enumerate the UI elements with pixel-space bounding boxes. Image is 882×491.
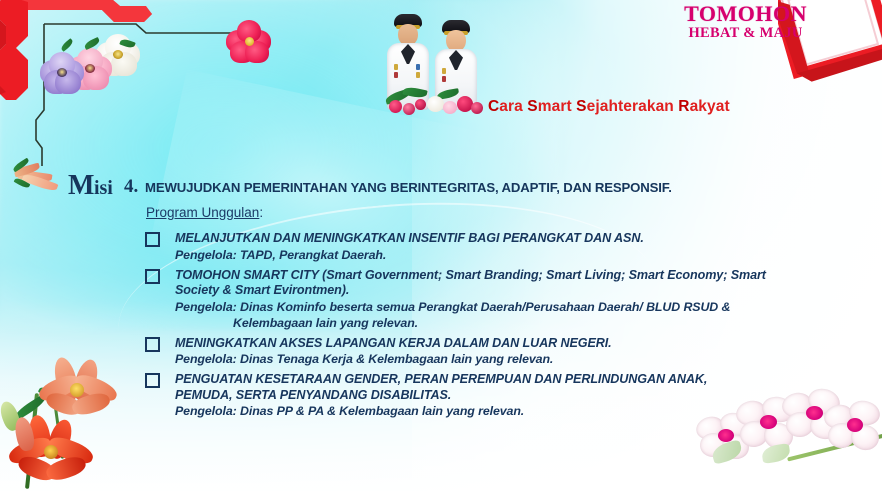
list-item-sub-cont: Kelembagaan lain yang relevan. bbox=[233, 315, 865, 331]
list-item-sub: Pengelola: Dinas Kominfo beserta semua P… bbox=[175, 299, 865, 315]
list-item: MENINGKATKAN AKSES LAPANGAN KERJA DALAM … bbox=[145, 336, 865, 368]
program-unggulan-label: Program Unggulan: bbox=[146, 205, 263, 220]
program-unggulan-underlined: Program Unggulan bbox=[146, 205, 259, 220]
list-item: MELANJUTKAN DAN MENINGKATKAN INSENTIF BA… bbox=[145, 231, 865, 263]
list-item: TOMOHON SMART CITY (Smart Government; Sm… bbox=[145, 268, 865, 331]
list-item-sub: Pengelola: Dinas Tenaga Kerja & Kelembag… bbox=[175, 351, 865, 367]
hollow-square-icon bbox=[145, 269, 160, 284]
list-item-title: PENGUATAN KESETARAAN GENDER, PERAN PEREM… bbox=[175, 372, 743, 403]
list-item-title: MELANJUTKAN DAN MENINGKATKAN INSENTIF BA… bbox=[175, 231, 865, 247]
list-item-title: MENINGKATKAN AKSES LAPANGAN KERJA DALAM … bbox=[175, 336, 865, 352]
list-item-title: TOMOHON SMART CITY (Smart Government; Sm… bbox=[175, 268, 787, 299]
page-title: MEWUJUDKAN PEMERINTAHAN YANG BERINTEGRIT… bbox=[145, 180, 845, 195]
misi-label: Misi bbox=[68, 170, 113, 202]
hollow-square-icon bbox=[145, 232, 160, 247]
orchid-4-icon bbox=[824, 397, 882, 455]
list-item-sub: Pengelola: TAPD, Perangkat Daerah. bbox=[175, 247, 865, 263]
misi-number: 4. bbox=[124, 176, 138, 198]
orchids-decor bbox=[690, 371, 882, 491]
slide-canvas: Cara Smart Sejahterakan Rakyat TOMOHON H… bbox=[0, 0, 882, 491]
misi-initial: M bbox=[68, 170, 94, 201]
program-unggulan-colon: : bbox=[259, 205, 263, 220]
misi-rest: isi bbox=[94, 177, 113, 199]
orange-lilies-decor bbox=[0, 345, 169, 491]
